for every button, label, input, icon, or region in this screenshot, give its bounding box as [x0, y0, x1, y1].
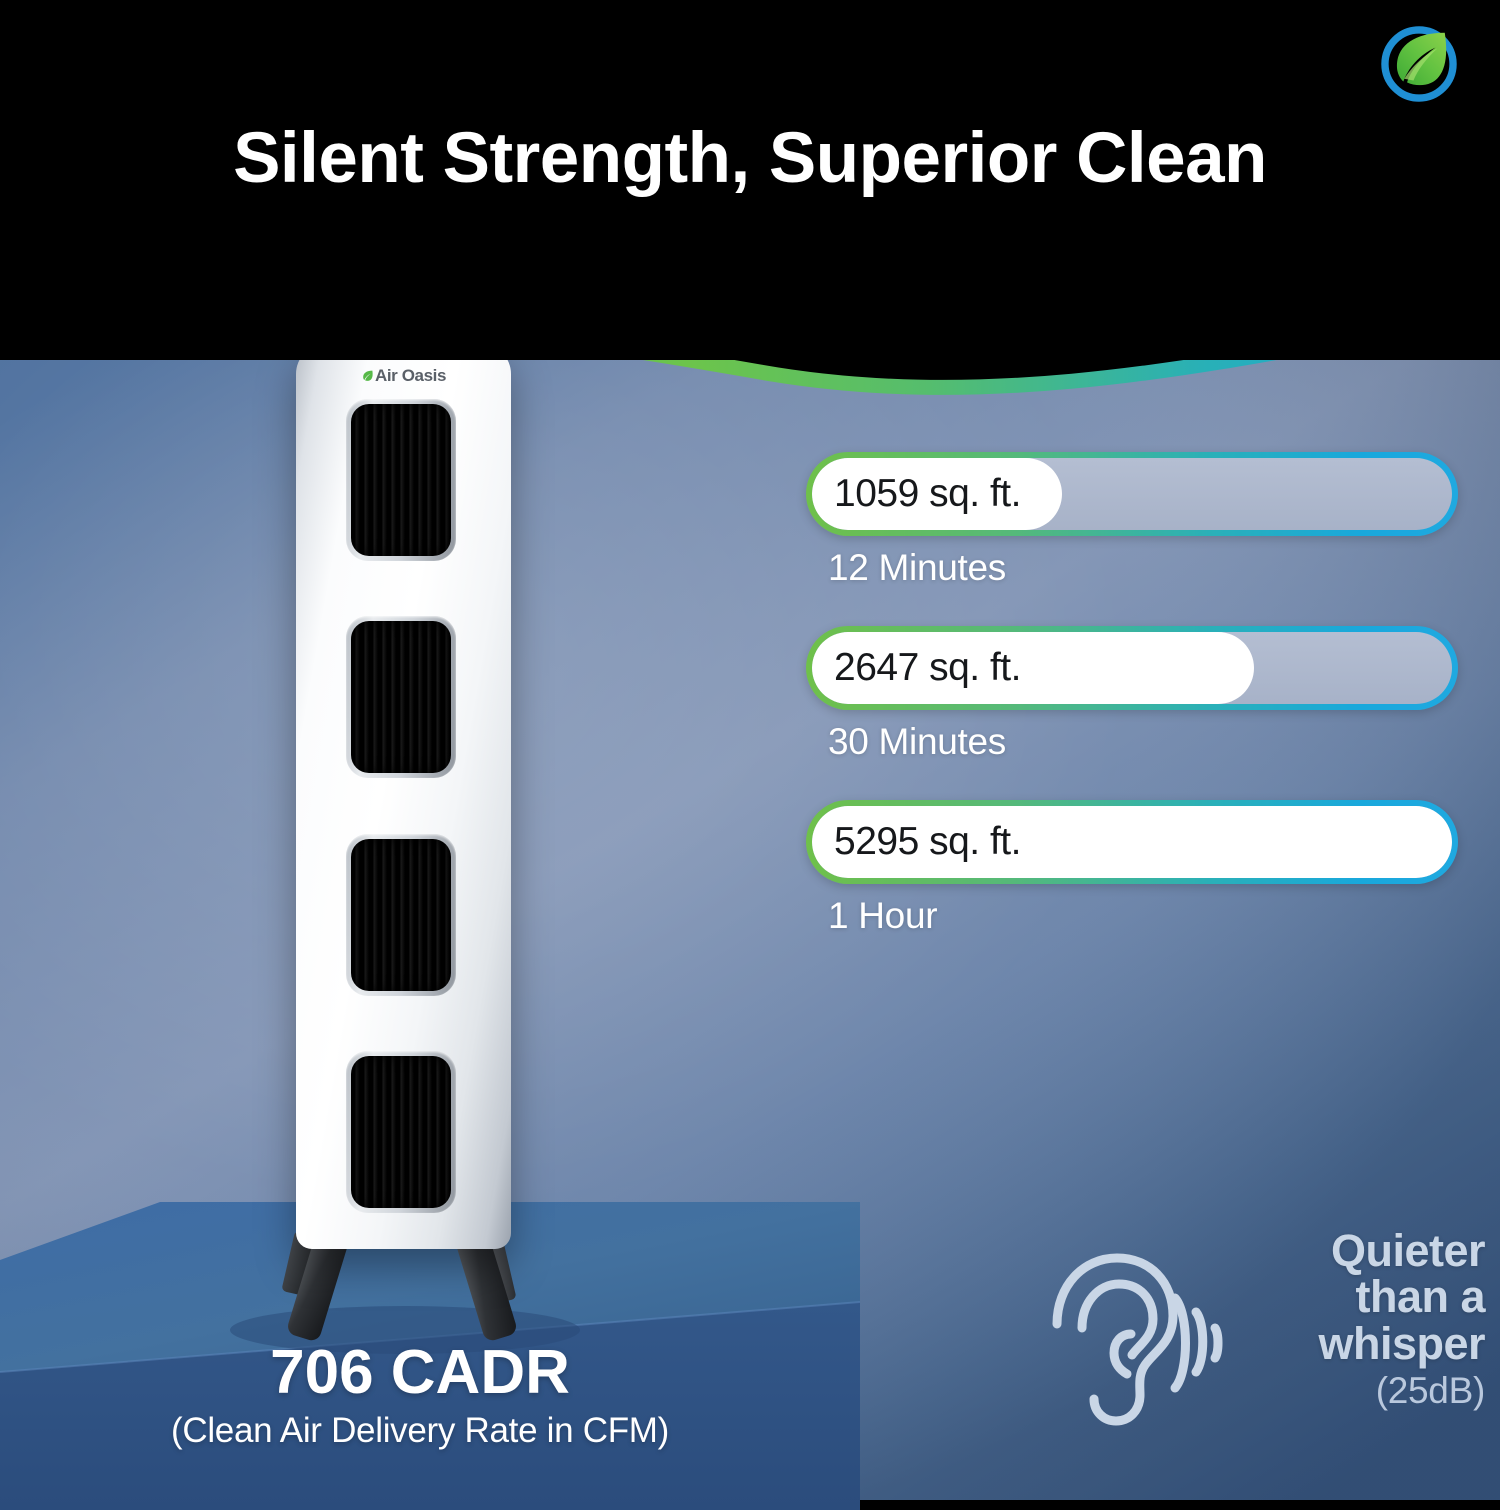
bar-group-1: 1059 sq. ft. 12 Minutes [806, 452, 1466, 589]
quiet-decibels: (25dB) [1240, 1370, 1485, 1412]
purifier-vent-1 [346, 399, 456, 561]
bar-time-label-3: 1 Hour [828, 895, 1466, 937]
quiet-line-1: Quieter [1240, 1228, 1485, 1274]
bar-value-2: 2647 sq. ft. [834, 646, 1021, 690]
coverage-bar-3: 5295 sq. ft. [806, 800, 1458, 884]
leaf-in-circle-logo [1373, 18, 1465, 110]
bar-time-label-1: 12 Minutes [828, 547, 1466, 589]
purifier-vent-3 [346, 834, 456, 996]
page-title: Silent Strength, Superior Clean [0, 118, 1500, 199]
bar-value-3: 5295 sq. ft. [834, 820, 1021, 864]
cadr-callout: 706 CADR (Clean Air Delivery Rate in CFM… [0, 1340, 840, 1451]
coverage-bar-1: 1059 sq. ft. [806, 452, 1458, 536]
purifier-vent-4 [346, 1051, 456, 1213]
coverage-bar-2: 2647 sq. ft. [806, 626, 1458, 710]
cadr-value: 706 CADR [0, 1340, 840, 1407]
bar-value-1: 1059 sq. ft. [834, 472, 1021, 516]
air-purifier-product-image: Air Oasis [296, 344, 511, 1249]
bar-group-3: 5295 sq. ft. 1 Hour [806, 800, 1466, 937]
leaf-icon [361, 369, 374, 382]
quiet-text-block: Quieter than a whisper (25dB) [1240, 1228, 1485, 1412]
bar-group-2: 2647 sq. ft. 30 Minutes [806, 626, 1466, 763]
purifier-brand-text: Air Oasis [375, 366, 446, 385]
quiet-line-3: whisper [1240, 1321, 1485, 1367]
quiet-callout: Quieter than a whisper (25dB) [1035, 1228, 1480, 1468]
infographic-canvas: Air Oasis Silent Strength, Superior Clea… [0, 0, 1500, 1500]
coverage-bar-chart: 1059 sq. ft. 12 Minutes 2647 sq. ft. 30 … [806, 452, 1466, 937]
purifier-vent-2 [346, 616, 456, 778]
bar-time-label-2: 30 Minutes [828, 721, 1466, 763]
purifier-brand-label: Air Oasis [296, 366, 511, 386]
ear-with-soundwaves-icon [1035, 1236, 1235, 1446]
cadr-subtitle: (Clean Air Delivery Rate in CFM) [0, 1411, 840, 1451]
quiet-line-2: than a [1240, 1274, 1485, 1320]
